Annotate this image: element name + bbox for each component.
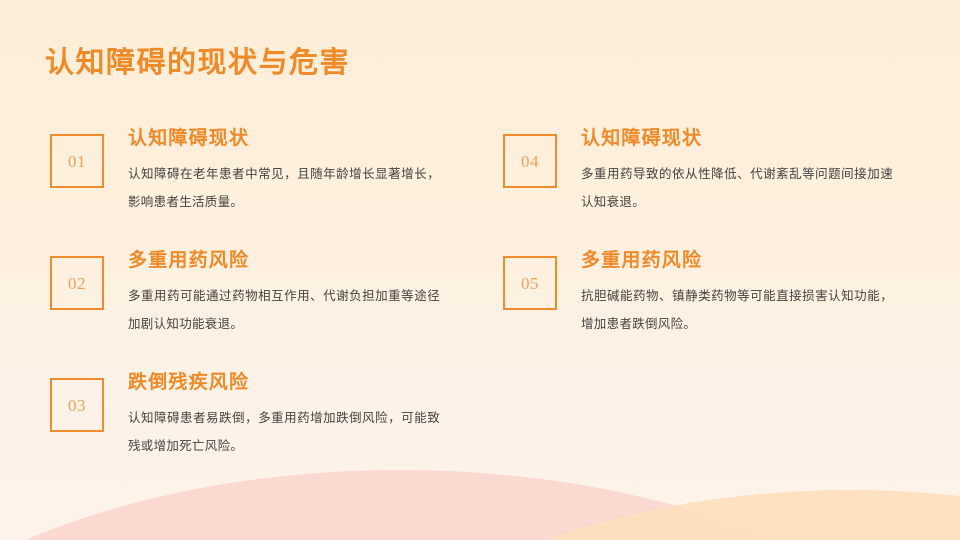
list-item[interactable]: 02 多重用药风险 多重用药可能通过药物相互作用、代谢负担加重等途径加剧认知功能…: [50, 250, 450, 372]
item-description: 多重用药导致的依从性降低、代谢紊乱等问题间接加速认知衰退。: [581, 160, 893, 216]
item-description: 认知障碍患者易跌倒，多重用药增加跌倒风险，可能致残或增加死亡风险。: [128, 404, 440, 460]
item-heading: 跌倒残疾风险: [128, 372, 440, 395]
item-number-box: 04: [503, 134, 557, 188]
item-number-label: 04: [521, 153, 539, 170]
item-number-box: 01: [50, 134, 104, 188]
item-number-box: 03: [50, 378, 104, 432]
item-description: 抗胆碱能药物、镇静类药物等可能直接损害认知功能，增加患者跌倒风险。: [581, 282, 893, 338]
content-column-right: 04 认知障碍现状 多重用药导致的依从性降低、代谢紊乱等问题间接加速认知衰退。 …: [503, 128, 903, 372]
item-heading: 多重用药风险: [581, 250, 893, 273]
item-number-box: 05: [503, 256, 557, 310]
list-item[interactable]: 04 认知障碍现状 多重用药导致的依从性降低、代谢紊乱等问题间接加速认知衰退。: [503, 128, 903, 250]
item-heading: 多重用药风险: [128, 250, 440, 273]
content-column-left: 01 认知障碍现状 认知障碍在老年患者中常见，且随年龄增长显著增长，影响患者生活…: [50, 128, 450, 494]
item-body: 多重用药风险 抗胆碱能药物、镇静类药物等可能直接损害认知功能，增加患者跌倒风险。: [581, 250, 893, 338]
item-number-label: 01: [68, 153, 86, 170]
list-item[interactable]: 05 多重用药风险 抗胆碱能药物、镇静类药物等可能直接损害认知功能，增加患者跌倒…: [503, 250, 903, 372]
item-description: 多重用药可能通过药物相互作用、代谢负担加重等途径加剧认知功能衰退。: [128, 282, 440, 338]
item-description: 认知障碍在老年患者中常见，且随年龄增长显著增长，影响患者生活质量。: [128, 160, 440, 216]
slide-canvas: 认知障碍的现状与危害 01 认知障碍现状 认知障碍在老年患者中常见，且随年龄增长…: [0, 0, 960, 540]
item-body: 认知障碍现状 多重用药导致的依从性降低、代谢紊乱等问题间接加速认知衰退。: [581, 128, 893, 216]
item-heading: 认知障碍现状: [128, 128, 440, 151]
item-body: 认知障碍现状 认知障碍在老年患者中常见，且随年龄增长显著增长，影响患者生活质量。: [128, 128, 440, 216]
list-item[interactable]: 03 跌倒残疾风险 认知障碍患者易跌倒，多重用药增加跌倒风险，可能致残或增加死亡…: [50, 372, 450, 494]
item-heading: 认知障碍现状: [581, 128, 893, 151]
item-number-box: 02: [50, 256, 104, 310]
item-number-label: 02: [68, 275, 86, 292]
list-item[interactable]: 01 认知障碍现状 认知障碍在老年患者中常见，且随年龄增长显著增长，影响患者生活…: [50, 128, 450, 250]
item-number-label: 05: [521, 275, 539, 292]
item-body: 跌倒残疾风险 认知障碍患者易跌倒，多重用药增加跌倒风险，可能致残或增加死亡风险。: [128, 372, 440, 460]
item-number-label: 03: [68, 397, 86, 414]
content-columns: 01 认知障碍现状 认知障碍在老年患者中常见，且随年龄增长显著增长，影响患者生活…: [0, 0, 960, 540]
item-body: 多重用药风险 多重用药可能通过药物相互作用、代谢负担加重等途径加剧认知功能衰退。: [128, 250, 440, 338]
